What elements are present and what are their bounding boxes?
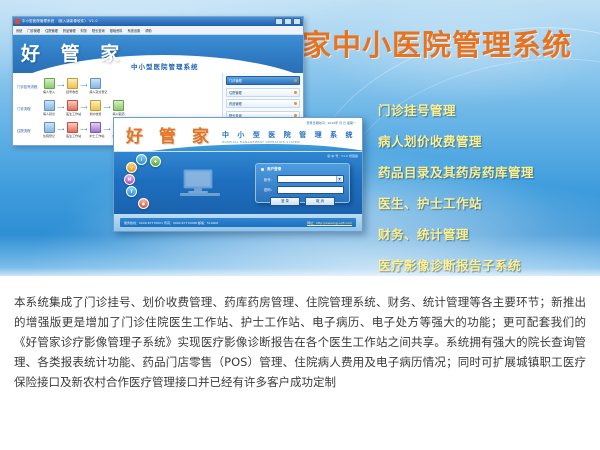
pill-circle-icon: ♀ [126,162,137,173]
arrow-right-icon: ⟶ [57,128,64,133]
workflow-node-label: 医生工作站 [66,112,78,116]
menu-item[interactable]: 系统 [16,28,22,33]
workflow-node[interactable]: 病人取药 [113,100,125,116]
sidebar-item-inpatient[interactable]: 住院管理 [226,88,300,97]
feature-list: 门诊挂号管理 病人划价收费管理 药品目录及其药房药库管理 医生、护士工作站 财务… [378,100,593,286]
computer-illustration [178,168,222,198]
page-root: 好管家中小医院管理系统 门诊挂号管理 病人划价收费管理 药品目录及其药房药库管理… [0,0,600,450]
workflow-node[interactable]: 病人就诊 [43,100,55,116]
arrow-right-icon: ⟶ [57,106,64,111]
workflow-row-label: 门诊挂号流程 [17,84,41,89]
sidebar-item-medicine[interactable]: 药品管理 [226,99,300,108]
visit-register-icon [90,78,101,89]
menu-item[interactable]: 帮助 [145,28,151,33]
workflow-node-label: 护士工作站 [89,134,101,138]
brand-logo: 好 管 家 [21,39,126,66]
report-circle-icon: ● [138,198,149,209]
menu-item[interactable]: 基础资料 [110,28,123,33]
cancel-button[interactable]: 取 消 [305,197,335,206]
brand-title-cn: 中 小 型 医 院 管 理 系 统 [222,130,356,140]
cross-circle-icon: ✚ [150,156,161,167]
minimize-icon[interactable] [275,18,283,25]
login-panel-header: 用户登录 [261,167,344,172]
workflow-node[interactable]: 医生工作站 [66,122,78,138]
login-window-body: 版 本 号：V1.0 增强版 i ✚ ♀ M T ● 用户登录 [114,152,362,214]
arrow-right-icon: ⟶ [80,84,87,89]
footer-bar: 服务热线：0000-87770001 传真：0000-87770088 邮编：5… [120,218,356,227]
workflow-node[interactable]: 划价收费 [89,100,101,116]
chevron-down-icon [294,91,297,94]
workflow-node-label: 病人就诊登记 [89,90,101,94]
feature-item: 医疗影像诊断报告子系统 [378,255,593,274]
arrow-right-icon: ⟶ [57,84,64,89]
workflow-node-label: 挂号收费 [66,90,78,94]
chevron-down-icon [294,79,297,82]
arrow-right-icon: ⟶ [103,106,110,111]
feature-item: 药品目录及其药房药库管理 [378,162,593,181]
login-panel-title: 用户登录 [267,167,281,172]
version-status-text: 版 本 号：V1.0 增强版 [327,154,358,158]
patient-entry-icon [44,78,55,89]
footer-website-link[interactable]: 网址：http://www.hgj-soft.com [307,221,352,225]
arrow-right-icon: ⟶ [80,128,87,133]
sidebar-item-label: 药品管理 [229,101,242,106]
login-button[interactable]: 登 录 [270,197,300,206]
chevron-down-icon [294,102,297,105]
maximize-icon[interactable] [284,18,292,25]
menu-item[interactable]: 系统设置 [128,28,141,33]
footer-contact-text: 服务热线：0000-87770001 传真：0000-87770088 邮编：5… [124,221,218,225]
patient-visit-icon [44,100,55,111]
password-label: 密码： [261,187,274,192]
nurse-station-icon [90,122,101,133]
brand-logo: 好 管 家 [126,122,214,147]
account-label: 帐号： [261,177,274,182]
doctor-station-icon [67,100,78,111]
screenshot-login-window: 好 管 家 中 小 型 医 院 管 理 系 统 HOSPITAL MANAGEM… [113,117,363,232]
workflow-node-label: 划价收费 [89,112,101,116]
brand-subtitle: 中小型医院管理系统 [131,61,199,71]
workflow-node-label: 病人就诊 [43,112,55,116]
window-header-banner: 好 管 家 中小型医院管理系统 [13,35,303,73]
workflow-node-label: 病人取药 [113,112,125,116]
workflow-node-label: 医生工作站 [66,134,78,138]
feature-item: 医生、护士工作站 [378,193,593,212]
login-panel: 用户登录 帐号： ▼ 密码： 登 录 取 消 [255,163,350,203]
feature-item: 病人划价收费管理 [378,131,593,150]
sidebar-item-outpatient[interactable]: 门诊管理 [226,76,300,85]
dispense-medicine-icon [113,100,124,111]
workflow-row: 门诊流程 病人就诊 ⟶ 医生工作站 ⟶ 划价收费 ⟶ [17,100,220,116]
arrow-right-icon: ⟶ [80,106,87,111]
window-title-bar: 中小型医院管理系统 （嵌入版影像软件） V1.0 [13,17,303,26]
workflow-row: 门诊挂号流程 病人录入 ⟶ 挂号收费 ⟶ 病人就诊登记 [17,78,220,94]
workflow-node[interactable]: 病人就诊登记 [89,78,101,94]
workflow-node[interactable]: 挂号收费 [66,78,78,94]
monitor-circle-icon: T [126,186,137,197]
workflow-row-label: 门诊流程 [17,106,41,111]
workflow-node[interactable]: 医生工作站 [66,100,78,116]
login-window-footer: 服务热线：0000-87770001 传真：0000-87770088 邮编：5… [114,214,362,231]
menu-item[interactable]: 药品管理 [63,28,76,33]
login-date-text: 登录日期时间：2010年 月 日 星期一 [307,121,357,125]
pricing-fee-icon [90,100,101,111]
menu-item[interactable]: 门诊管理 [27,28,40,33]
app-icon [15,19,20,24]
account-input[interactable]: ▼ [277,175,344,183]
sidebar-item-label: 门诊管理 [229,78,242,83]
menu-item[interactable]: 院长查询 [92,28,105,33]
login-button-row: 登 录 取 消 [261,197,344,206]
description-paragraph: 本系统集成了门诊挂号、划价收费管理、药库药房管理、住院管理系统、财务、统计管理等… [14,292,586,392]
workflow-row-label: 住院流程 [17,128,41,133]
arrow-right-icon: ⟶ [103,128,110,133]
menu-item[interactable]: 财务 [81,28,87,33]
registration-fee-icon [67,78,78,89]
nurse-circle-icon: M [124,174,135,185]
workflow-node[interactable]: 住院登记 [43,122,55,138]
workflow-node-label: 住院登记 [43,134,55,138]
close-icon[interactable] [293,18,301,25]
menu-item[interactable]: 住院管理 [45,28,58,33]
chevron-down-icon[interactable]: ▼ [336,176,342,182]
feature-icon-cluster: i ✚ ♀ M T ● [120,154,174,212]
window-controls [275,18,301,25]
bullet-icon [261,168,264,171]
password-field-row: 密码： [261,186,344,194]
workflow-node-label: 病人录入 [43,90,55,94]
feature-item: 财务、统计管理 [378,224,593,243]
feature-item: 门诊挂号管理 [378,100,593,119]
workflow-node[interactable]: 护士工作站 [89,122,101,138]
sidebar-item-label: 住院管理 [229,90,242,95]
admission-icon [44,122,55,133]
window-title-text: 中小型医院管理系统 （嵌入版影像软件） V1.0 [22,19,273,24]
login-window-header: 好 管 家 中 小 型 医 院 管 理 系 统 HOSPITAL MANAGEM… [114,118,362,152]
doctor-station-icon [67,122,78,133]
workflow-node[interactable]: 病人录入 [43,78,55,94]
password-input[interactable] [277,186,344,194]
menu-bar: 系统 门诊管理 住院管理 药品管理 财务 院长查询 基础资料 系统设置 帮助 [13,26,303,35]
account-field-row: 帐号： ▼ [261,175,344,183]
info-circle-icon: i [136,154,147,165]
